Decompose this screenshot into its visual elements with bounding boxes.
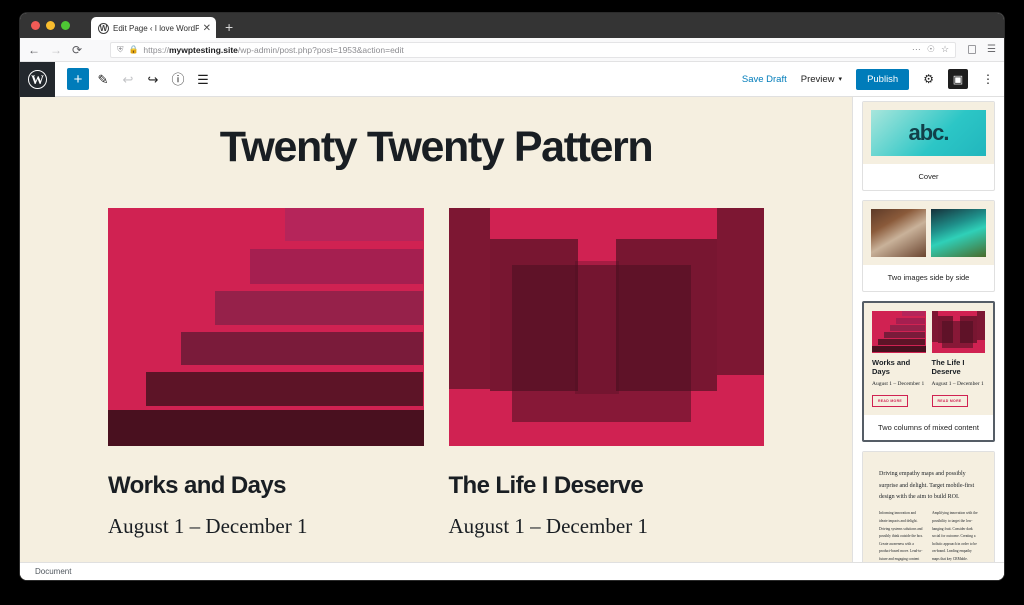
more-options-icon[interactable]: ⋮ xyxy=(982,72,994,86)
address-bar-actions: ⋯ ☉ ☆ xyxy=(912,44,949,55)
column-left[interactable]: Works and Days August 1 – December 1 xyxy=(108,208,424,539)
mini-art-blocks xyxy=(932,311,986,353)
gear-icon[interactable]: ⚙ xyxy=(923,72,934,86)
two-images-thumbnail xyxy=(871,209,986,257)
pattern-label: Cover xyxy=(863,164,994,190)
image-thumbnail-right xyxy=(931,209,986,257)
sidebar-right-edge xyxy=(998,97,1004,562)
pattern-preview: abc. xyxy=(863,102,994,164)
lock-icon: 🔒 xyxy=(128,45,138,54)
chevron-down-icon: ▾ xyxy=(839,75,843,83)
page-actions-icon[interactable]: ⋯ xyxy=(912,44,921,55)
account-icon[interactable] xyxy=(968,45,976,54)
editor-canvas[interactable]: Twenty Twenty Pattern Works a xyxy=(20,97,852,580)
patterns-sidebar[interactable]: abc. Cover Two images side by side xyxy=(852,97,1004,580)
block-inserter-icon[interactable]: ▣ xyxy=(948,69,968,89)
save-draft-button[interactable]: Save Draft xyxy=(742,74,787,85)
pattern-preview xyxy=(863,201,994,265)
mini-heading: Works and Days xyxy=(872,358,926,377)
image-thumbnail-left xyxy=(871,209,926,257)
editor-body: Twenty Twenty Pattern Works a xyxy=(20,97,1004,580)
new-tab-button[interactable]: + xyxy=(225,19,233,35)
page-title[interactable]: Twenty Twenty Pattern xyxy=(66,125,806,170)
read-more-button[interactable]: READ MORE xyxy=(872,395,908,407)
intro-lede: Driving empathy maps and possibly surpri… xyxy=(879,469,978,503)
column-right[interactable]: The Life I Deserve August 1 – December 1 xyxy=(449,208,765,539)
browser-tab[interactable]: W Edit Page ‹ I love WordPress — ✕ xyxy=(91,17,216,40)
pattern-label: Two columns of mixed content xyxy=(864,415,993,441)
pattern-card-intro-paragraph[interactable]: Driving empathy maps and possibly surpri… xyxy=(862,451,995,580)
maximize-window-button[interactable] xyxy=(61,21,70,30)
pattern-label: Two images side by side xyxy=(863,265,994,291)
editor-toolbar: + ✎ ↩ ↪ ⓘ ☰ xyxy=(67,68,214,90)
back-icon[interactable]: ← xyxy=(28,44,40,56)
tab-title: Edit Page ‹ I love WordPress — xyxy=(113,24,199,33)
wordpress-icon: W xyxy=(98,23,109,34)
minimize-window-button[interactable] xyxy=(46,21,55,30)
column-heading[interactable]: Works and Days xyxy=(108,472,424,500)
browser-navbar: ← → ⟳ ⛨ 🔒 https://mywptesting.site/wp-ad… xyxy=(20,38,1004,62)
bookmark-icon[interactable]: ☆ xyxy=(941,44,949,55)
pattern-card-two-images[interactable]: Two images side by side xyxy=(862,200,995,292)
screenshot-root: W Edit Page ‹ I love WordPress — ✕ + ← →… xyxy=(0,0,1024,605)
edit-tool-icon[interactable]: ✎ xyxy=(92,68,114,90)
column-heading[interactable]: The Life I Deserve xyxy=(449,472,765,500)
editor-header-actions: Save Draft Preview ▾ Publish ⚙ ▣ ⋮ xyxy=(742,69,1004,90)
preview-label: Preview xyxy=(801,74,835,85)
mini-heading: The Life I Deserve xyxy=(932,358,986,377)
cover-thumbnail: abc. xyxy=(871,110,986,156)
details-info-icon[interactable]: ⓘ xyxy=(167,68,189,90)
mini-column-right: The Life I Deserve August 1 – December 1… xyxy=(932,311,986,407)
browser-titlebar: W Edit Page ‹ I love WordPress — ✕ + xyxy=(20,13,1004,38)
navbar-tail: ☰ xyxy=(968,44,996,55)
column-subtitle[interactable]: August 1 – December 1 xyxy=(449,514,765,539)
mini-date: August 1 – December 1 xyxy=(932,380,986,388)
read-more-button[interactable]: READ MORE xyxy=(932,395,968,407)
undo-icon[interactable]: ↩ xyxy=(117,68,139,90)
editor-header: W + ✎ ↩ ↪ ⓘ ☰ Save Draft Preview ▾ Publi… xyxy=(20,62,1004,97)
forward-icon[interactable]: → xyxy=(50,44,62,56)
browser-window: W Edit Page ‹ I love WordPress — ✕ + ← →… xyxy=(20,13,1004,580)
mini-columns: Works and Days August 1 – December 1 REA… xyxy=(872,311,985,407)
url-text: https://mywptesting.site/wp-admin/post.p… xyxy=(143,45,403,55)
mini-date: August 1 – December 1 xyxy=(872,380,926,388)
status-label[interactable]: Document xyxy=(35,567,71,576)
wordpress-icon: W xyxy=(28,70,47,89)
pattern-card-cover[interactable]: abc. Cover xyxy=(862,101,995,191)
reload-icon[interactable]: ⟳ xyxy=(72,44,82,56)
mini-column-left: Works and Days August 1 – December 1 REA… xyxy=(872,311,926,407)
hamburger-menu-icon[interactable]: ☰ xyxy=(987,44,996,55)
close-icon[interactable]: ✕ xyxy=(203,24,211,34)
close-window-button[interactable] xyxy=(31,21,40,30)
pattern-card-two-columns[interactable]: Works and Days August 1 – December 1 REA… xyxy=(862,301,995,443)
redo-icon[interactable]: ↪ xyxy=(142,68,164,90)
publish-button[interactable]: Publish xyxy=(856,69,909,90)
pattern-preview: Driving empathy maps and possibly surpri… xyxy=(863,452,994,580)
mini-art-stairs xyxy=(872,311,926,353)
preview-button[interactable]: Preview ▾ xyxy=(801,74,842,85)
pattern-preview: Works and Days August 1 – December 1 REA… xyxy=(864,303,993,415)
decorative-art-blocks xyxy=(449,208,765,446)
list-view-icon[interactable]: ☰ xyxy=(192,68,214,90)
wordpress-logo-button[interactable]: W xyxy=(20,62,55,97)
decorative-art-stairs xyxy=(108,208,424,446)
columns-block: Works and Days August 1 – December 1 xyxy=(66,208,806,539)
shield-icon[interactable]: ⛨ xyxy=(117,44,123,55)
pocket-icon[interactable]: ☉ xyxy=(927,44,935,55)
column-subtitle[interactable]: August 1 – December 1 xyxy=(108,514,424,539)
address-bar[interactable]: ⛨ 🔒 https://mywptesting.site/wp-admin/po… xyxy=(110,42,956,58)
status-bar: Document xyxy=(20,562,1004,580)
window-controls[interactable] xyxy=(31,21,70,30)
add-block-icon[interactable]: + xyxy=(67,68,89,90)
